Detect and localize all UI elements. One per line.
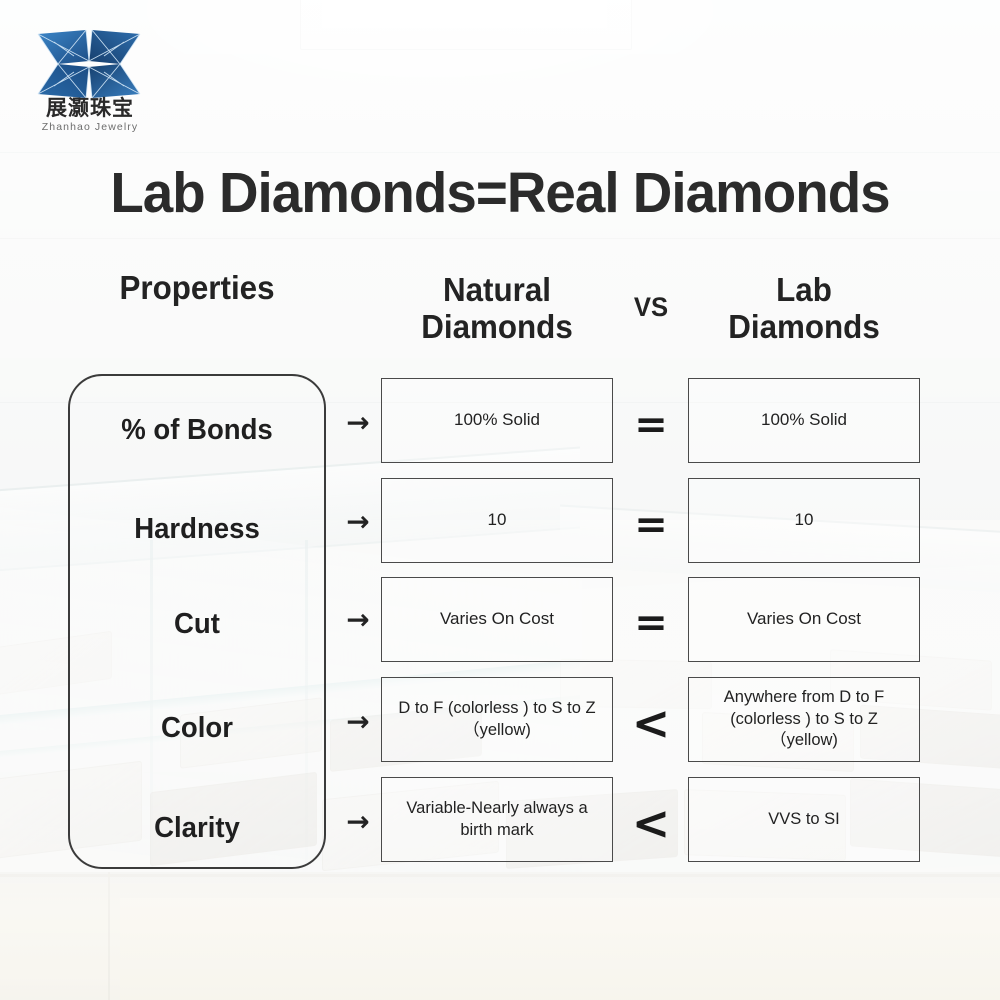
header-properties: Properties [74, 270, 319, 307]
lab-value-clarity: VVS to SI [688, 777, 920, 862]
brand-name-cn: 展灏珠宝 [26, 98, 154, 119]
row-arrow-icon: → [336, 606, 380, 634]
operator-less-than-icon: < [616, 800, 686, 846]
natural-value-bonds: 100% Solid [381, 378, 613, 463]
operator-equals-icon: = [616, 603, 686, 643]
header-natural-line1: Natural [387, 272, 607, 309]
butterfly-pinwheel-logo-icon [34, 28, 144, 100]
infographic-canvas: 展灏珠宝 Zhanhao Jewelry Lab Diamonds=Real D… [0, 0, 1000, 1000]
natural-value-clarity: Variable-Nearly always a birth mark [381, 777, 613, 862]
property-label-color: Color [74, 712, 319, 745]
property-label-clarity: Clarity [74, 812, 319, 845]
property-label-cut: Cut [74, 608, 319, 641]
page-title: Lab Diamonds=Real Diamonds [20, 160, 980, 226]
row-arrow-icon: → [336, 508, 380, 536]
natural-value-color: D to F (colorless ) to S to Z（yellow) [381, 677, 613, 762]
row-arrow-icon: → [336, 409, 380, 437]
lab-value-hardness: 10 [688, 478, 920, 563]
operator-equals-icon: = [616, 405, 686, 445]
lab-value-bonds: 100% Solid [688, 378, 920, 463]
header-lab-line2: Diamonds [694, 309, 914, 346]
brand-name-en: Zhanhao Jewelry [26, 121, 154, 133]
property-label-bonds: % of Bonds [74, 414, 319, 447]
infographic-content: 展灏珠宝 Zhanhao Jewelry Lab Diamonds=Real D… [0, 0, 1000, 1000]
header-lab-diamonds: Lab Diamonds [694, 272, 914, 346]
lab-value-cut: Varies On Cost [688, 577, 920, 662]
header-lab-line1: Lab [694, 272, 914, 309]
header-vs: VS [616, 292, 686, 322]
brand-logo[interactable]: 展灏珠宝 Zhanhao Jewelry [26, 28, 154, 136]
header-natural-line2: Diamonds [387, 309, 607, 346]
operator-less-than-icon: < [616, 700, 686, 746]
natural-value-cut: Varies On Cost [381, 577, 613, 662]
row-arrow-icon: → [336, 808, 380, 836]
operator-equals-icon: = [616, 505, 686, 545]
property-label-hardness: Hardness [74, 513, 319, 546]
lab-value-color: Anywhere from D to F (colorless ) to S t… [688, 677, 920, 762]
row-arrow-icon: → [336, 708, 380, 736]
header-natural-diamonds: Natural Diamonds [387, 272, 607, 346]
natural-value-hardness: 10 [381, 478, 613, 563]
